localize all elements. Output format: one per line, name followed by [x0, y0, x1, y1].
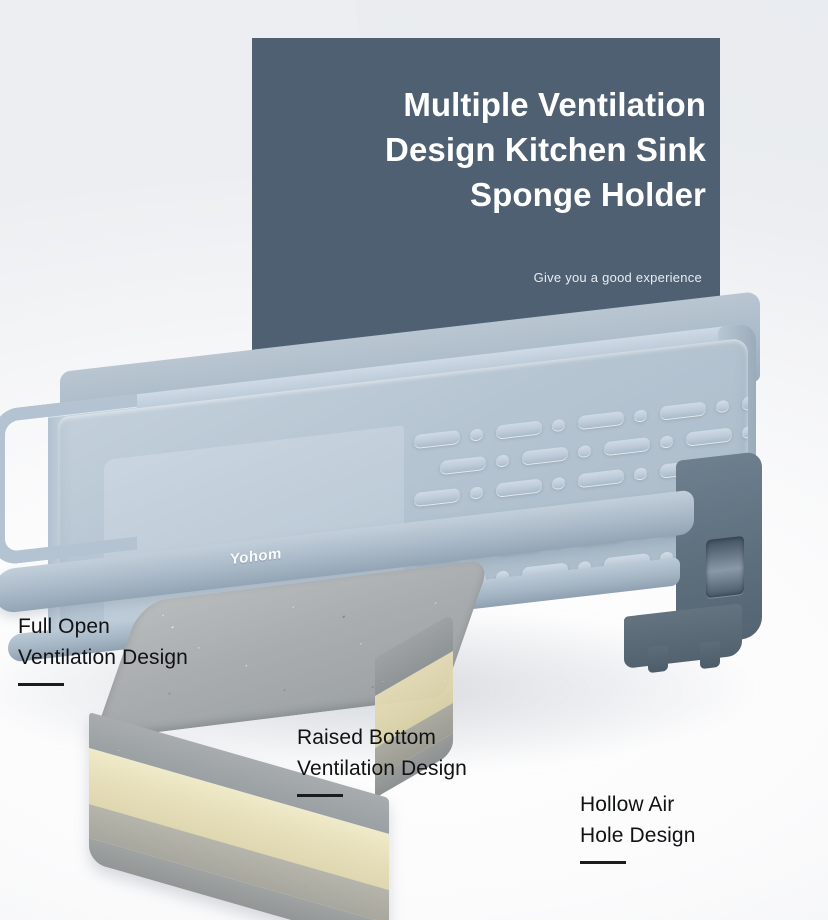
callout-1-line-2: Ventilation Design	[18, 642, 188, 673]
callout-3-rule	[580, 861, 626, 864]
vent-slot	[686, 427, 732, 445]
vent-slot	[604, 437, 650, 455]
vent-dot	[716, 400, 729, 413]
callout-full-open-ventilation: Full Open Ventilation Design	[18, 611, 188, 686]
callout-2-rule	[297, 794, 343, 797]
callout-3-line-1: Hollow Air	[580, 789, 696, 820]
vent-dot	[496, 454, 509, 467]
callout-hollow-air-hole: Hollow Air Hole Design	[580, 789, 696, 864]
vent-dot	[578, 445, 591, 458]
vent-dot	[470, 486, 483, 499]
headline-line-3: Sponge Holder	[252, 172, 706, 217]
vent-slot	[578, 411, 624, 429]
vent-slot	[440, 456, 486, 474]
vent-slot	[522, 446, 568, 464]
tray-foot-right	[648, 645, 668, 673]
headline-line-2: Design Kitchen Sink	[252, 127, 706, 172]
callout-3-line-2: Hole Design	[580, 820, 696, 851]
headline-line-1: Multiple Ventilation	[252, 82, 706, 127]
vent-slot	[578, 469, 624, 487]
vent-slot	[496, 478, 542, 496]
vent-dot	[634, 409, 647, 422]
hollow-air-hole	[706, 536, 744, 598]
vent-slot	[742, 392, 748, 410]
tray-underside-shadow	[624, 603, 742, 669]
vent-dot	[742, 426, 748, 439]
vent-dot	[552, 477, 565, 490]
vent-slot	[414, 488, 460, 506]
callout-1-rule	[18, 683, 64, 686]
vent-dot	[552, 419, 565, 432]
tray-foot-far-right	[700, 641, 720, 669]
callout-2-line-2: Ventilation Design	[297, 753, 467, 784]
hero-subtitle: Give you a good experience	[534, 270, 702, 285]
brand-logo: Yohom	[230, 545, 282, 568]
hero-headline: Multiple Ventilation Design Kitchen Sink…	[252, 82, 706, 217]
vent-dot	[470, 428, 483, 441]
vent-slot	[660, 401, 706, 419]
product-marketing-image: Multiple Ventilation Design Kitchen Sink…	[0, 0, 828, 920]
callout-1-line-1: Full Open	[18, 611, 188, 642]
vent-slot	[414, 430, 460, 448]
callout-2-line-1: Raised Bottom	[297, 722, 467, 753]
tray-open-frame-handle	[0, 394, 137, 567]
vent-slot	[496, 420, 542, 438]
vent-dot	[634, 467, 647, 480]
vent-dot	[660, 435, 673, 448]
callout-raised-bottom-ventilation: Raised Bottom Ventilation Design	[297, 722, 467, 797]
